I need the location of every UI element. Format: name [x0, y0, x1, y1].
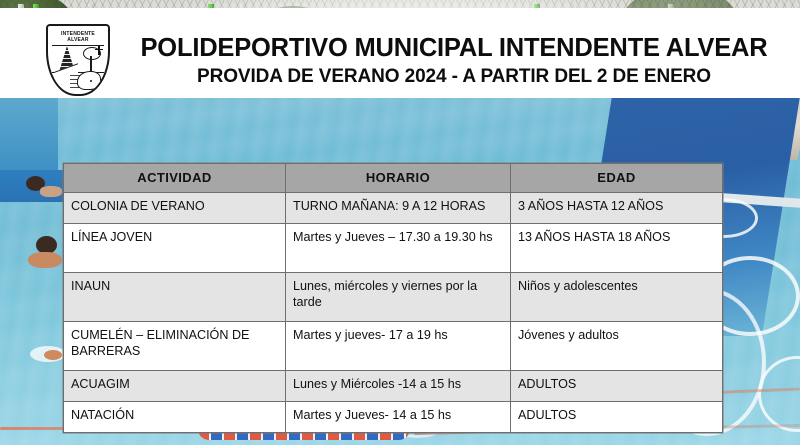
cell-age: Jóvenes y adultos [511, 322, 723, 371]
page-title: POLIDEPORTIVO MUNICIPAL INTENDENTE ALVEA… [124, 34, 784, 63]
cell-age: Niños y adolescentes [511, 273, 723, 322]
column-header-actividad: ACTIVIDAD [64, 164, 286, 193]
cell-age: ADULTOS [511, 402, 723, 433]
title-band: INTENDENTE ALVEAR POLIDEPORTIVO MUNIC [0, 8, 800, 98]
table-row: NATACIÓNMartes y Jueves- 14 a 15 hsADULT… [64, 402, 723, 433]
table-header-row: ACTIVIDAD HORARIO EDAD [64, 164, 723, 193]
municipal-coat-of-arms-icon: INTENDENTE ALVEAR [46, 24, 110, 96]
table-body: COLONIA DE VERANOTURNO MAÑANA: 9 A 12 HO… [64, 193, 723, 433]
cell-activity: ACUAGIM [64, 371, 286, 402]
cell-age: 3 AÑOS HASTA 12 AÑOS [511, 193, 723, 224]
swimmer [40, 186, 62, 197]
cell-activity: COLONIA DE VERANO [64, 193, 286, 224]
shield-lower-field [52, 73, 104, 91]
cell-activity: INAUN [64, 273, 286, 322]
cell-schedule: TURNO MAÑANA: 9 A 12 HORAS [286, 193, 511, 224]
cell-schedule: Lunes y Miércoles -14 a 15 hs [286, 371, 511, 402]
cross-icon [98, 46, 100, 55]
cell-activity: LÍNEA JOVEN [64, 224, 286, 273]
cross-icon [95, 49, 103, 51]
schedule-table: ACTIVIDAD HORARIO EDAD COLONIA DE VERANO… [63, 163, 723, 433]
cell-schedule: Martes y Jueves- 14 a 15 hs [286, 402, 511, 433]
cell-age: 13 AÑOS HASTA 18 AÑOS [511, 224, 723, 273]
tree-trunk-icon [90, 56, 92, 72]
column-header-horario: HORARIO [286, 164, 511, 193]
flyer-poster: INTENDENTE ALVEAR POLIDEPORTIVO MUNIC [0, 0, 800, 445]
cell-schedule: Martes y Jueves – 17.30 a 19.30 hs [286, 224, 511, 273]
table-row: CUMELÉN – ELIMINACIÓN DE BARRERASMartes … [64, 322, 723, 371]
pool-edge [0, 96, 58, 174]
cell-age: ADULTOS [511, 371, 723, 402]
page-subtitle: PROVIDA DE VERANO 2024 - A PARTIR DEL 2 … [124, 66, 784, 88]
cell-activity: NATACIÓN [64, 402, 286, 433]
cell-schedule: Martes y jueves- 17 a 19 hs [286, 322, 511, 371]
table-row: LÍNEA JOVENMartes y Jueves – 17.30 a 19.… [64, 224, 723, 273]
face-icon [77, 71, 101, 90]
swimmer-arm [44, 350, 62, 360]
table-row: ACUAGIMLunes y Miércoles -14 a 15 hsADUL… [64, 371, 723, 402]
table-row: COLONIA DE VERANOTURNO MAÑANA: 9 A 12 HO… [64, 193, 723, 224]
shield-icon: INTENDENTE ALVEAR [46, 24, 110, 96]
column-header-edad: EDAD [511, 164, 723, 193]
swimmer [28, 252, 62, 268]
cell-activity: CUMELÉN – ELIMINACIÓN DE BARRERAS [64, 322, 286, 371]
cell-schedule: Lunes, miércoles y viernes por la tarde [286, 273, 511, 322]
face-eye-icon [90, 80, 92, 82]
table-row: INAUNLunes, miércoles y viernes por la t… [64, 273, 723, 322]
